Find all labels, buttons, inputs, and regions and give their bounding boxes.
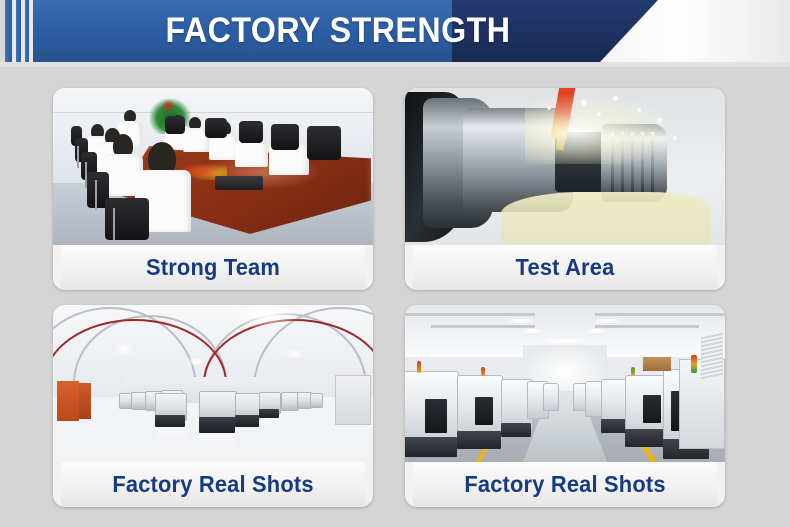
banner-stripe-gap-3 (29, 0, 33, 62)
factory-hall-photo (53, 305, 373, 462)
card-strong-team[interactable]: Strong Team (53, 88, 373, 290)
header-banner: FACTORY STRENGTH (0, 0, 790, 62)
card-factory-real-shots-rows[interactable]: Factory Real Shots (405, 305, 725, 507)
cnc-lathe-photo (405, 88, 725, 245)
card-factory-real-shots-hall[interactable]: Factory Real Shots (53, 305, 373, 507)
meeting-room-photo (53, 88, 373, 245)
machine-rows-photo (405, 305, 725, 462)
card-caption: Test Area (413, 245, 717, 290)
card-grid: Strong Team (0, 67, 790, 527)
page-title: FACTORY STRENGTH (53, 0, 623, 62)
card-test-area[interactable]: Test Area (405, 88, 725, 290)
card-caption: Strong Team (61, 245, 365, 290)
banner-stripe-group (5, 0, 45, 62)
banner-stripe-1 (5, 0, 12, 62)
card-caption: Factory Real Shots (413, 462, 717, 507)
factory-strength-page: FACTORY STRENGTH (0, 0, 790, 527)
card-caption: Factory Real Shots (61, 462, 365, 507)
